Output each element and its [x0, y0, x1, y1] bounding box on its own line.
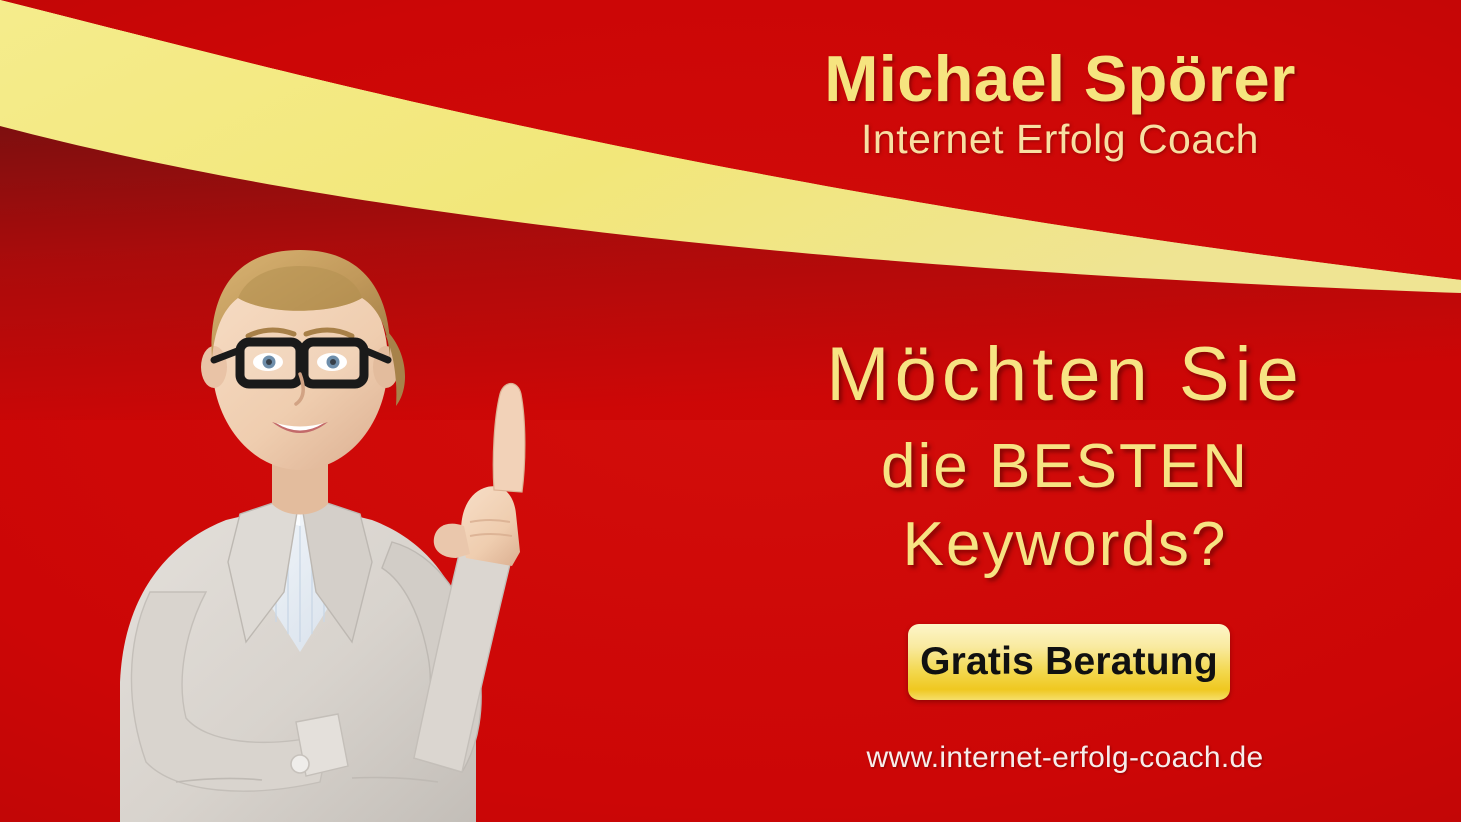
- website-url[interactable]: www.internet-erfolg-coach.de: [700, 741, 1430, 775]
- hand-right: [461, 486, 520, 566]
- headline-line-1: Möchten Sie: [700, 336, 1430, 414]
- blazer-button: [291, 755, 309, 773]
- thumb: [434, 524, 470, 558]
- brand-tagline: Internet Erfolg Coach: [690, 117, 1430, 162]
- headline-line-3: Keywords?: [700, 506, 1430, 584]
- ear-left: [201, 346, 227, 388]
- businesswoman-photo: [0, 122, 640, 822]
- headline-block: Möchten Sie die BESTEN Keywords?: [700, 336, 1430, 584]
- gratis-beratung-button[interactable]: Gratis Beratung: [908, 624, 1230, 700]
- promo-banner: Michael Spörer Internet Erfolg Coach Möc…: [0, 0, 1461, 822]
- brand-name: Michael Spörer: [690, 46, 1430, 113]
- index-finger: [493, 384, 525, 493]
- businesswoman-illustration: [0, 122, 640, 822]
- headline-line-2: die BESTEN: [700, 428, 1430, 506]
- brand-block: Michael Spörer Internet Erfolg Coach: [690, 46, 1430, 162]
